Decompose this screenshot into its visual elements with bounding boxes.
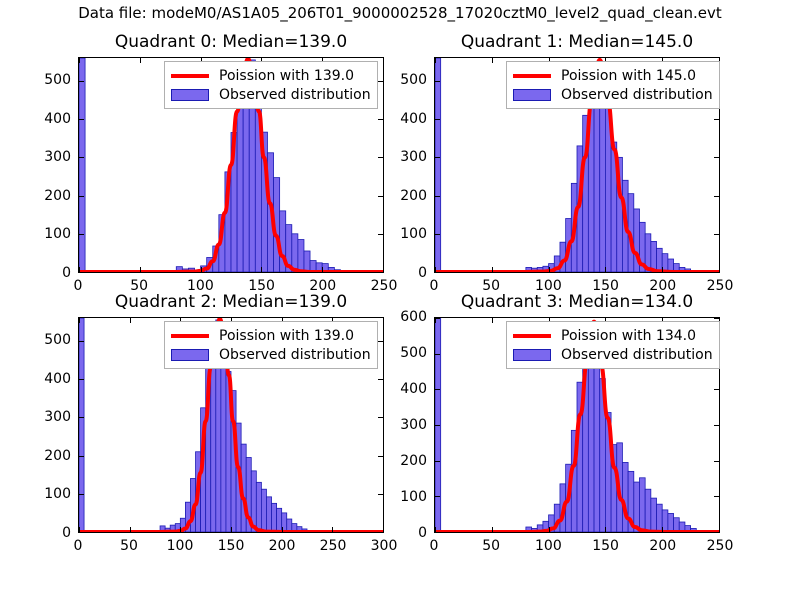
legend-label-observed: Observed distribution: [219, 347, 371, 363]
x-tick-label: 100: [167, 539, 194, 553]
x-tick-mark: [282, 527, 283, 532]
legend-entry-observed: Observed distribution: [170, 85, 371, 104]
y-tick-label: 400: [44, 372, 71, 386]
subplot-title-quadrant-3: Quadrant 3: Median=134.0: [434, 292, 720, 312]
legend-label-observed: Observed distribution: [561, 347, 713, 363]
histogram-bar: [79, 318, 84, 532]
legend-label-observed: Observed distribution: [219, 87, 371, 103]
legend-label-poisson: Poission with 139.0: [219, 68, 354, 84]
legend-patch-swatch: [512, 347, 552, 363]
x-tick-label: 200: [649, 539, 676, 553]
y-tick-label: 600: [400, 310, 427, 324]
y-tick-label: 200: [44, 449, 71, 463]
y-tick-mark: [378, 341, 383, 342]
x-tick-label: 150: [592, 279, 619, 293]
x-tick-mark: [383, 267, 384, 272]
legend-entry-poisson: Poission with 139.0: [170, 326, 371, 345]
y-tick-mark: [435, 389, 440, 390]
histogram-bar: [674, 518, 680, 532]
x-tick-label: 100: [535, 279, 562, 293]
histogram-bar: [256, 482, 261, 532]
x-tick-mark: [383, 318, 384, 323]
x-tick-mark: [605, 527, 606, 532]
histogram-bar: [645, 489, 651, 532]
figure-canvas: Data file: modeM0/AS1A05_206T01_90000025…: [0, 0, 800, 600]
y-tick-mark: [79, 272, 84, 273]
x-tick-mark: [435, 318, 436, 323]
y-tick-label: 300: [400, 150, 427, 164]
y-tick-mark: [79, 456, 84, 457]
y-tick-label: 300: [44, 410, 71, 424]
y-tick-mark: [79, 81, 84, 82]
x-tick-label: 250: [371, 279, 398, 293]
x-tick-mark: [231, 527, 232, 532]
x-tick-mark: [322, 267, 323, 272]
x-tick-mark: [201, 267, 202, 272]
x-tick-mark: [492, 58, 493, 63]
legend-quadrant-3: Poission with 134.0 Observed distributio…: [506, 321, 720, 369]
x-tick-mark: [130, 318, 131, 323]
x-tick-label: 50: [482, 279, 500, 293]
x-tick-mark: [435, 267, 436, 272]
y-tick-mark: [378, 456, 383, 457]
y-tick-mark: [378, 379, 383, 380]
legend-patch-swatch: [512, 87, 552, 103]
histogram-bar: [272, 503, 277, 532]
x-tick-mark: [180, 527, 181, 532]
x-tick-mark: [605, 267, 606, 272]
y-tick-label: 100: [400, 227, 427, 241]
x-tick-label: 100: [535, 539, 562, 553]
y-tick-mark: [714, 157, 719, 158]
histogram-bar: [622, 462, 628, 532]
legend-entry-observed: Observed distribution: [170, 345, 371, 364]
y-tick-mark: [714, 119, 719, 120]
legend-entry-observed: Observed distribution: [512, 85, 713, 104]
legend-entry-poisson: Poission with 145.0: [512, 66, 713, 85]
y-tick-mark: [435, 496, 440, 497]
y-tick-label: 500: [400, 73, 427, 87]
x-tick-mark: [79, 318, 80, 323]
y-tick-mark: [79, 157, 84, 158]
y-tick-mark: [79, 234, 84, 235]
x-tick-label: 200: [269, 539, 296, 553]
x-tick-label: 300: [371, 539, 398, 553]
histogram-bar: [634, 482, 640, 532]
y-tick-label: 200: [400, 189, 427, 203]
subplot-quadrant-2: Quadrant 2: Median=139.0 010020030040050…: [78, 317, 384, 533]
y-tick-mark: [714, 532, 719, 533]
y-tick-label: 100: [44, 227, 71, 241]
legend-patch-swatch: [170, 87, 210, 103]
histogram-bar: [237, 88, 243, 272]
legend-quadrant-0: Poission with 139.0 Observed distributio…: [164, 61, 378, 109]
y-tick-label: 500: [44, 73, 71, 87]
x-tick-mark: [130, 527, 131, 532]
y-tick-label: 0: [62, 526, 71, 540]
y-tick-mark: [79, 196, 84, 197]
x-tick-mark: [662, 267, 663, 272]
y-tick-mark: [435, 532, 440, 533]
x-tick-label: 50: [120, 539, 138, 553]
y-tick-mark: [79, 341, 84, 342]
x-tick-label: 150: [218, 539, 245, 553]
x-tick-mark: [719, 527, 720, 532]
y-tick-mark: [435, 119, 440, 120]
histogram-bar: [79, 58, 85, 272]
x-tick-label: 150: [592, 539, 619, 553]
x-tick-label: 200: [649, 279, 676, 293]
histogram-bar: [435, 58, 441, 272]
y-tick-mark: [435, 157, 440, 158]
x-tick-mark: [79, 58, 80, 63]
x-tick-label: 250: [707, 279, 734, 293]
x-tick-mark: [549, 527, 550, 532]
x-tick-mark: [383, 527, 384, 532]
legend-label-observed: Observed distribution: [561, 87, 713, 103]
y-tick-mark: [435, 81, 440, 82]
x-tick-label: 0: [74, 539, 83, 553]
x-tick-label: 250: [320, 539, 347, 553]
x-tick-mark: [79, 527, 80, 532]
x-tick-mark: [435, 58, 436, 63]
x-tick-mark: [383, 58, 384, 63]
subplot-title-quadrant-0: Quadrant 0: Median=139.0: [78, 32, 384, 52]
y-tick-mark: [378, 417, 383, 418]
x-tick-label: 50: [482, 539, 500, 553]
subplot-quadrant-3: Quadrant 3: Median=134.0 010020030040050…: [434, 317, 720, 533]
y-tick-mark: [714, 389, 719, 390]
histogram-bar: [298, 240, 304, 272]
legend-quadrant-1: Poission with 145.0 Observed distributio…: [506, 61, 720, 109]
y-tick-mark: [435, 425, 440, 426]
legend-line-swatch: [170, 68, 210, 84]
y-tick-mark: [378, 532, 383, 533]
legend-entry-poisson: Poission with 139.0: [170, 66, 371, 85]
histogram-bar: [304, 251, 310, 272]
y-tick-mark: [378, 196, 383, 197]
subplot-title-quadrant-1: Quadrant 1: Median=145.0: [434, 32, 720, 52]
histogram-bar: [221, 352, 226, 532]
y-tick-label: 300: [400, 418, 427, 432]
x-tick-label: 150: [248, 279, 275, 293]
y-tick-label: 500: [44, 333, 71, 347]
histogram-bar: [651, 498, 657, 532]
x-tick-label: 250: [707, 539, 734, 553]
x-tick-label: 200: [309, 279, 336, 293]
histogram-bar: [639, 478, 645, 532]
x-tick-mark: [332, 527, 333, 532]
y-tick-mark: [79, 379, 84, 380]
x-tick-mark: [261, 267, 262, 272]
legend-line-swatch: [512, 328, 552, 344]
y-tick-label: 400: [44, 112, 71, 126]
x-tick-label: 50: [130, 279, 148, 293]
y-tick-mark: [714, 425, 719, 426]
y-tick-label: 300: [44, 150, 71, 164]
legend-label-poisson: Poission with 134.0: [561, 328, 696, 344]
y-tick-mark: [714, 461, 719, 462]
x-tick-label: 0: [74, 279, 83, 293]
x-tick-mark: [492, 318, 493, 323]
histogram-bar: [594, 347, 600, 532]
y-tick-mark: [79, 119, 84, 120]
y-tick-mark: [378, 119, 383, 120]
y-tick-mark: [79, 532, 84, 533]
subplot-title-quadrant-2: Quadrant 2: Median=139.0: [78, 292, 384, 312]
x-tick-label: 0: [430, 279, 439, 293]
x-tick-mark: [435, 527, 436, 532]
y-tick-label: 500: [400, 346, 427, 360]
x-tick-label: 100: [187, 279, 214, 293]
y-tick-mark: [79, 417, 84, 418]
y-tick-label: 400: [400, 382, 427, 396]
y-tick-mark: [435, 461, 440, 462]
x-tick-mark: [549, 267, 550, 272]
y-tick-label: 200: [44, 189, 71, 203]
y-tick-mark: [714, 272, 719, 273]
legend-line-swatch: [170, 328, 210, 344]
legend-entry-observed: Observed distribution: [512, 345, 713, 364]
figure-suptitle: Data file: modeM0/AS1A05_206T01_90000025…: [0, 4, 800, 22]
y-tick-mark: [714, 234, 719, 235]
y-tick-mark: [378, 234, 383, 235]
y-tick-label: 0: [418, 266, 427, 280]
y-tick-mark: [378, 272, 383, 273]
x-tick-mark: [719, 267, 720, 272]
histogram-bar: [292, 234, 298, 272]
y-tick-mark: [378, 81, 383, 82]
histogram-bar: [668, 513, 674, 532]
legend-patch-swatch: [170, 347, 210, 363]
legend-quadrant-2: Poission with 139.0 Observed distributio…: [164, 321, 378, 369]
x-tick-mark: [140, 58, 141, 63]
legend-entry-poisson: Poission with 134.0: [512, 326, 713, 345]
y-tick-mark: [435, 234, 440, 235]
y-tick-label: 100: [44, 487, 71, 501]
legend-label-poisson: Poission with 145.0: [561, 68, 696, 84]
legend-line-swatch: [512, 68, 552, 84]
y-tick-label: 400: [400, 112, 427, 126]
y-tick-mark: [714, 196, 719, 197]
y-tick-mark: [378, 494, 383, 495]
x-tick-mark: [492, 267, 493, 272]
x-tick-mark: [662, 527, 663, 532]
subplot-quadrant-1: Quadrant 1: Median=145.0 010020030040050…: [434, 57, 720, 273]
x-tick-mark: [492, 527, 493, 532]
y-tick-mark: [435, 272, 440, 273]
x-tick-mark: [79, 267, 80, 272]
y-tick-label: 0: [62, 266, 71, 280]
x-tick-label: 0: [430, 539, 439, 553]
subplot-quadrant-0: Quadrant 0: Median=139.0 010020030040050…: [78, 57, 384, 273]
y-tick-mark: [79, 494, 84, 495]
legend-label-poisson: Poission with 139.0: [219, 328, 354, 344]
y-tick-label: 200: [400, 454, 427, 468]
y-tick-mark: [435, 354, 440, 355]
histogram-bar: [261, 489, 266, 532]
histogram-bar: [266, 497, 271, 532]
y-tick-mark: [435, 196, 440, 197]
y-tick-mark: [378, 157, 383, 158]
y-tick-label: 0: [418, 526, 427, 540]
y-tick-label: 100: [400, 490, 427, 504]
y-tick-mark: [714, 496, 719, 497]
x-tick-mark: [140, 267, 141, 272]
